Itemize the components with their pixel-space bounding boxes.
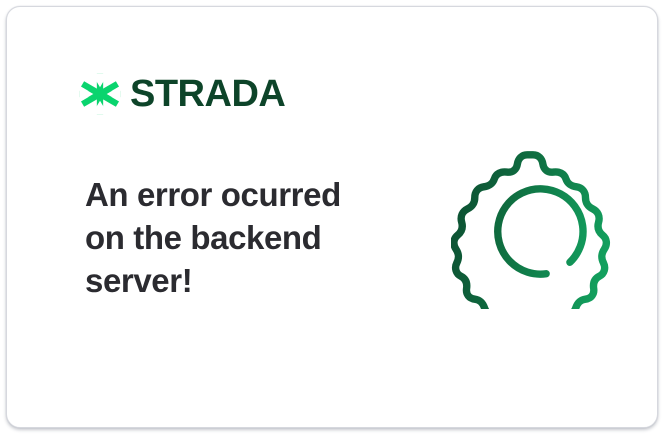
error-card: STRADA An error ocurred on the backend s… [6, 6, 658, 428]
strada-asterisk-icon [79, 73, 121, 115]
error-message-text: An error ocurred on the backend server! [85, 173, 385, 302]
brand-wordmark: STRADA [130, 75, 285, 113]
page-root: STRADA An error ocurred on the backend s… [0, 0, 666, 436]
brand-lockup: STRADA [79, 73, 285, 115]
gear-cog-icon [451, 145, 615, 309]
